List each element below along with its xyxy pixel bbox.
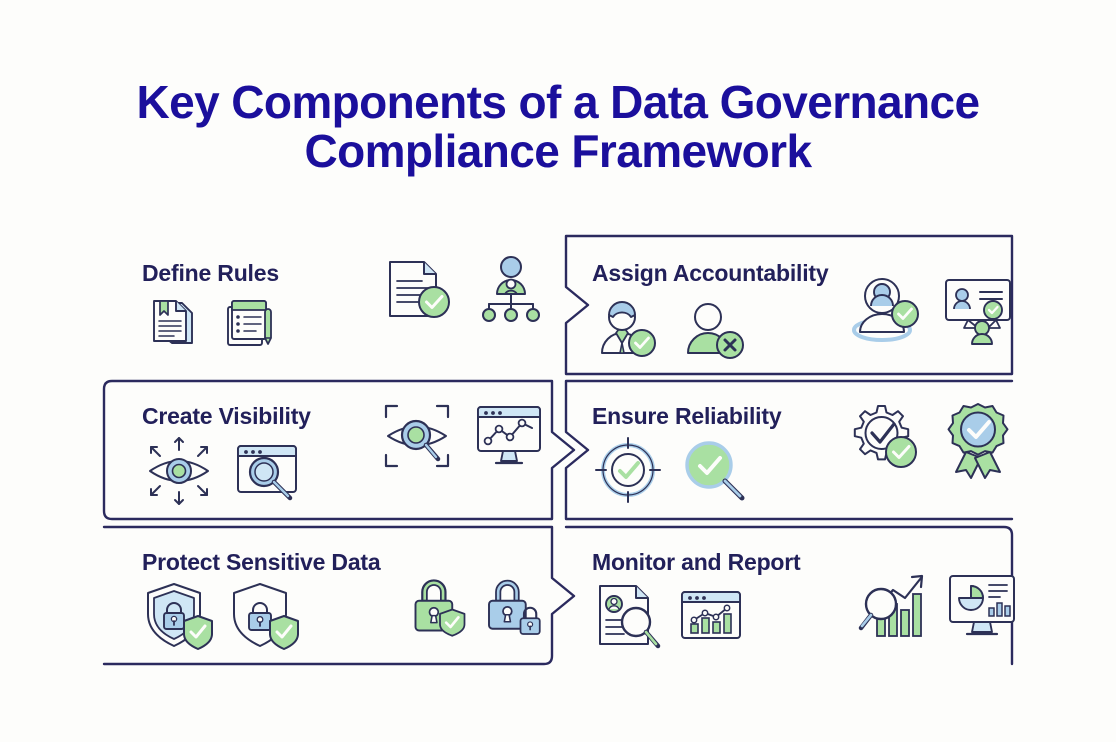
infographic-canvas: Key Components of a Data Governance Comp… <box>0 0 1116 742</box>
checklist-with-pen-icon <box>218 291 280 353</box>
visibility-secondary-icons <box>378 397 548 475</box>
user-group-approved-icon <box>844 270 924 350</box>
cell-define-rules-icons <box>380 250 550 328</box>
monitor-trendline-icon <box>470 397 548 475</box>
magnifier-check-icon <box>678 434 750 506</box>
dashboard-search-icon <box>230 434 304 508</box>
padlock-shield-icon <box>405 570 468 642</box>
cell-create-visibility-icons <box>378 397 548 475</box>
eye-expand-icon <box>142 434 216 508</box>
target-check-icon <box>592 434 664 506</box>
profile-report-search-icon <box>592 580 662 650</box>
cell-protect-sensitive-data-icons <box>405 570 545 642</box>
cell-assign-accountability-icons <box>838 270 1018 350</box>
shield-lock-verified-icon <box>142 580 214 652</box>
reliability-secondary-icons <box>828 400 1018 480</box>
gear-check-icon <box>844 400 924 480</box>
growth-chart-magnify-icon <box>857 568 931 642</box>
org-hierarchy-icon <box>472 250 550 328</box>
shield-lock-check-icon <box>228 580 300 652</box>
monitor-analytics-icon <box>945 568 1019 642</box>
person-approved-icon <box>592 291 664 363</box>
define-rules-secondary-icons <box>380 250 550 328</box>
page-title: Key Components of a Data Governance Comp… <box>0 78 1116 176</box>
presentation-team-icon <box>938 270 1018 350</box>
monitor-secondary-icons <box>834 568 1019 642</box>
person-rejected-icon <box>678 291 750 363</box>
eye-scan-magnify-icon <box>378 397 456 475</box>
cell-monitor-and-report-icons <box>834 568 1019 642</box>
dashboard-chart-icon <box>676 580 746 650</box>
document-approved-icon <box>380 250 458 328</box>
assign-secondary-icons <box>838 270 1018 350</box>
protect-secondary-icons <box>405 570 545 642</box>
cell-ensure-reliability-icons <box>828 400 1018 480</box>
title-line-2: Compliance Framework <box>0 127 1116 176</box>
award-ribbon-check-icon <box>938 400 1018 480</box>
padlock-pair-icon <box>482 570 545 642</box>
title-line-1: Key Components of a Data Governance <box>0 78 1116 127</box>
bookmarked-document-icon <box>142 291 204 353</box>
